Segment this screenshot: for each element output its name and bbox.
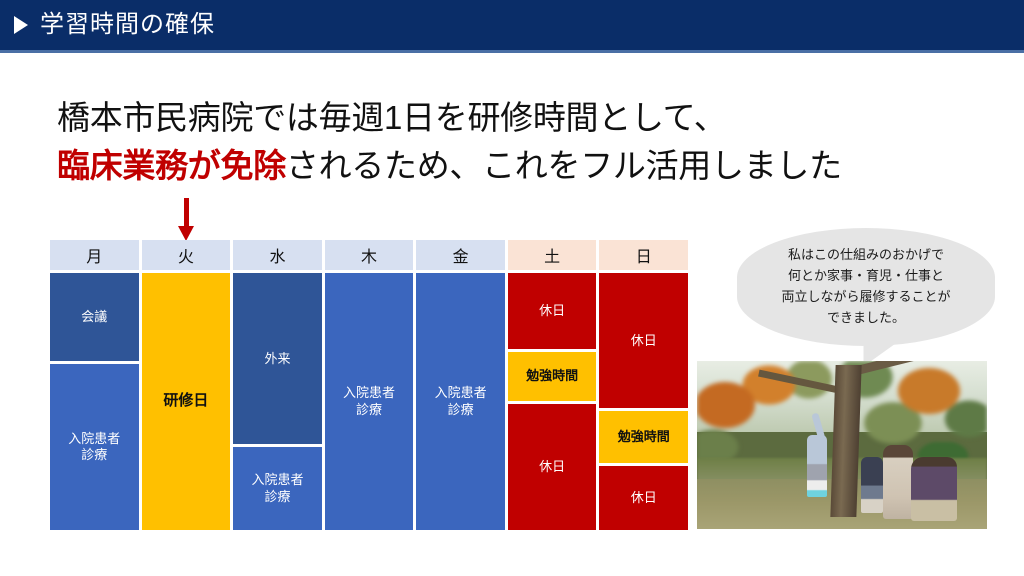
headline-line-2: 臨床業務が免除されるため、これをフル活用しました bbox=[57, 142, 917, 190]
day-header-土: 土 bbox=[508, 240, 597, 270]
day-header-月: 月 bbox=[50, 240, 139, 270]
arrow-head bbox=[178, 226, 194, 241]
schedule-column-火: 火研修日 bbox=[142, 240, 231, 530]
schedule-column-body: 休日勉強時間休日 bbox=[508, 273, 597, 530]
photo-mother bbox=[883, 445, 913, 519]
page-title: 学習時間の確保 bbox=[40, 13, 215, 37]
schedule-column-body: 外来入院患者診療 bbox=[233, 273, 322, 530]
schedule-block: 休日 bbox=[508, 404, 597, 530]
photo-father bbox=[911, 457, 957, 521]
schedule-block: 研修日 bbox=[142, 273, 231, 530]
schedule-block: 入院患者診療 bbox=[325, 273, 414, 530]
day-header-日: 日 bbox=[599, 240, 688, 270]
photo-tree-trunk bbox=[830, 365, 861, 517]
day-header-金: 金 bbox=[416, 240, 505, 270]
schedule-column-水: 水外来入院患者診療 bbox=[233, 240, 322, 530]
photo-girl bbox=[807, 435, 827, 497]
headline-highlight: 臨床業務が免除 bbox=[57, 147, 286, 184]
slide-header-bar: 学習時間の確保 bbox=[0, 0, 1024, 50]
schedule-block: 会議 bbox=[50, 273, 139, 361]
schedule-column-body: 会議入院患者診療 bbox=[50, 273, 139, 530]
schedule-column-body: 研修日 bbox=[142, 273, 231, 530]
bubble-line-2: 何とか家事・育児・仕事と bbox=[781, 266, 950, 287]
day-header-木: 木 bbox=[325, 240, 414, 270]
photo-boy bbox=[861, 457, 883, 513]
schedule-block: 勉強時間 bbox=[599, 411, 688, 463]
schedule-column-body: 入院患者診療 bbox=[416, 273, 505, 530]
schedule-block: 外来 bbox=[233, 273, 322, 444]
schedule-block: 休日 bbox=[599, 466, 688, 530]
down-arrow-icon bbox=[178, 198, 196, 242]
day-header-水: 水 bbox=[233, 240, 322, 270]
day-header-火: 火 bbox=[142, 240, 231, 270]
schedule-column-月: 月会議入院患者診療 bbox=[50, 240, 139, 530]
speech-bubble-text: 私はこの仕組みのおかげで 何とか家事・育児・仕事と 両立しながら履修することが … bbox=[781, 245, 950, 328]
arrow-shaft bbox=[184, 198, 189, 228]
schedule-block: 勉強時間 bbox=[508, 352, 597, 401]
schedule-column-body: 休日勉強時間休日 bbox=[599, 273, 688, 530]
schedule-block: 入院患者診療 bbox=[233, 447, 322, 530]
headline-block: 橋本市民病院では毎週1日を研修時間として、 臨床業務が免除されるため、これをフル… bbox=[57, 94, 917, 190]
headline-line-2-rest: されるため、これをフル活用しました bbox=[286, 147, 842, 184]
schedule-column-木: 木入院患者診療 bbox=[325, 240, 414, 530]
bubble-line-1: 私はこの仕組みのおかげで bbox=[781, 245, 950, 266]
schedule-column-金: 金入院患者診療 bbox=[416, 240, 505, 530]
weekly-schedule-chart: 月会議入院患者診療火研修日水外来入院患者診療木入院患者診療金入院患者診療土休日勉… bbox=[50, 240, 688, 530]
bottom-stripe bbox=[0, 568, 1024, 576]
bubble-line-3: 両立しながら履修することが bbox=[781, 287, 950, 308]
schedule-block: 入院患者診療 bbox=[416, 273, 505, 530]
schedule-column-日: 日休日勉強時間休日 bbox=[599, 240, 688, 530]
schedule-column-body: 入院患者診療 bbox=[325, 273, 414, 530]
header-underline bbox=[0, 50, 1024, 53]
schedule-block: 休日 bbox=[508, 273, 597, 349]
schedule-block: 休日 bbox=[599, 273, 688, 408]
schedule-column-土: 土休日勉強時間休日 bbox=[508, 240, 597, 530]
headline-line-1: 橋本市民病院では毎週1日を研修時間として、 bbox=[57, 94, 917, 142]
triangle-right-icon bbox=[14, 16, 28, 34]
schedule-block: 入院患者診療 bbox=[50, 364, 139, 530]
family-in-park-photo bbox=[697, 361, 987, 529]
